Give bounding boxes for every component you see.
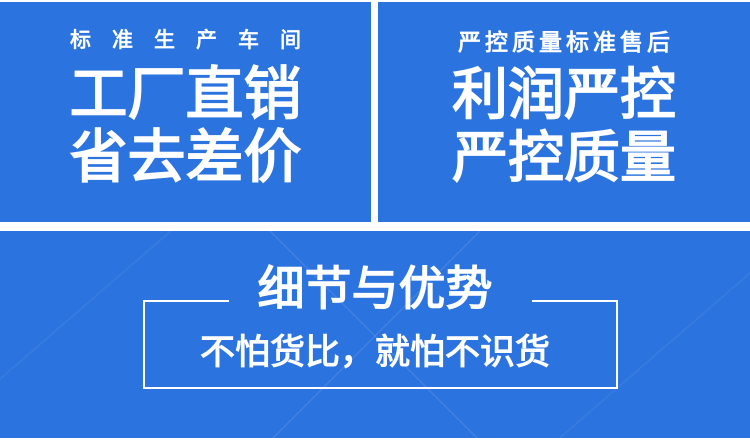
panel-right-headline-line2: 严控质量 xyxy=(452,129,676,186)
panel-left-headline-line1: 工厂直销 xyxy=(69,65,301,124)
panel-right-eyebrow: 严控质量标准售后 xyxy=(454,31,674,54)
panel-left-content: 标准生产车间 工厂直销 省去差价 xyxy=(0,2,371,222)
panel-right-headline-line1: 利润严控 xyxy=(452,66,676,123)
panel-left: 标准生产车间 工厂直销 省去差价 xyxy=(0,2,371,222)
panel-right: 严控质量标准售后 利润严控 严控质量 xyxy=(378,2,750,222)
banner-title: 细节与优势 xyxy=(0,265,750,312)
panel-right-content: 严控质量标准售后 利润严控 严控质量 xyxy=(378,2,750,222)
panel-left-headline-line2: 省去差价 xyxy=(69,128,301,187)
panel-left-eyebrow: 标准生产车间 xyxy=(49,30,322,51)
promo-banner-stage: 标准生产车间 工厂直销 省去差价 严控质量标准售后 利润严控 严控质量 细节与优… xyxy=(0,0,750,440)
banner-subtitle: 不怕货比，就怕不识货 xyxy=(0,335,750,370)
banner-bottom: 细节与优势 不怕货比，就怕不识货 xyxy=(0,231,750,438)
